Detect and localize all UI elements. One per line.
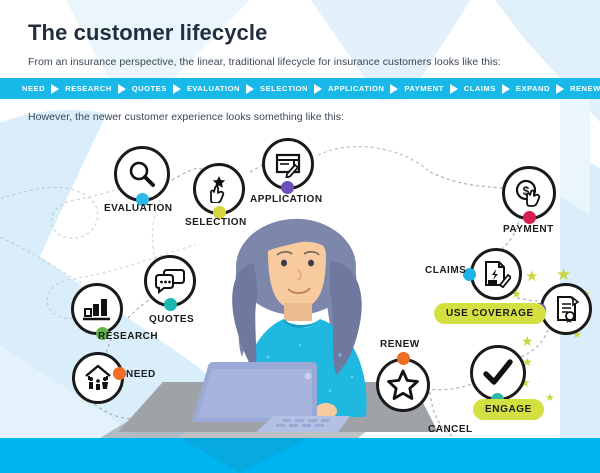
certificate-icon (552, 295, 580, 323)
journey-node-selection-label: SELECTION (185, 217, 247, 228)
bar-chart-icon (82, 296, 112, 322)
journey-node-renew[interactable] (376, 358, 430, 412)
rating-star: ★ (556, 266, 571, 283)
journey-node-application-dot (281, 181, 294, 194)
journey-node-research[interactable] (71, 283, 123, 335)
linear-lifecycle-banner: NEEDRESEARCHQUOTESEVALUATIONSELECTIONAPP… (0, 78, 600, 99)
lifecycle-step-application: APPLICATION (328, 84, 384, 93)
triangle-right-icon (118, 84, 126, 94)
bottom-band-triangle (180, 438, 310, 473)
journey-node-application-label: APPLICATION (250, 194, 323, 205)
lifecycle-step-claims: CLAIMS (464, 84, 496, 93)
lifecycle-step-need: NEED (22, 84, 45, 93)
lifecycle-step-research: RESEARCH (65, 84, 112, 93)
triangle-right-icon (390, 84, 398, 94)
triangle-right-icon (502, 84, 510, 94)
intro-paragraph-1: From an insurance perspective, the linea… (28, 56, 501, 68)
journey-node-renew-dot (397, 352, 410, 365)
journey-node-renew-label: RENEW (380, 339, 420, 350)
rating-star: ★ (545, 393, 555, 404)
infographic-canvas: The customer lifecycle From an insurance… (0, 0, 600, 473)
dollar-hand-icon: $ (514, 178, 544, 208)
lifecycle-step-quotes: QUOTES (132, 84, 167, 93)
triangle-right-icon (556, 84, 564, 94)
triangle-right-icon (51, 84, 59, 94)
speech-bubbles-icon (155, 268, 185, 294)
claims-doc-pen-icon (481, 259, 511, 289)
magnifier-icon (127, 159, 157, 189)
cursor-star-icon (205, 175, 233, 203)
laptop (186, 360, 352, 435)
pill-use-coverage[interactable]: USE COVERAGE (434, 303, 546, 324)
journey-node-need-label: NEED (126, 369, 156, 380)
rating-star: ★ (521, 334, 534, 348)
rating-star: ★ (525, 269, 538, 284)
star-outline-icon (387, 369, 419, 401)
cancel-label: CANCEL (428, 424, 473, 435)
journey-node-quotes-dot (164, 298, 177, 311)
family-home-icon (83, 364, 113, 392)
triangle-right-icon (314, 84, 322, 94)
lifecycle-step-payment: PAYMENT (404, 84, 443, 93)
journey-node-claims[interactable] (470, 248, 522, 300)
intro-paragraph-2: However, the newer customer experience l… (28, 111, 344, 123)
triangle-right-icon (246, 84, 254, 94)
lifecycle-step-expand: EXPAND (516, 84, 550, 93)
triangle-right-icon (173, 84, 181, 94)
journey-node-payment-label: PAYMENT (503, 224, 554, 235)
lifecycle-step-selection: SELECTION (260, 84, 308, 93)
journey-node-payment-dot (523, 211, 536, 224)
triangle-right-icon (450, 84, 458, 94)
form-pen-icon (274, 150, 302, 178)
journey-node-need-dot (113, 367, 126, 380)
checkmark-icon (482, 357, 514, 389)
journey-node-quotes-label: QUOTES (149, 314, 194, 325)
page-title: The customer lifecycle (28, 20, 267, 46)
lifecycle-step-evaluation: EVALUATION (187, 84, 240, 93)
journey-node-certificate[interactable] (540, 283, 592, 335)
journey-node-claims-label: CLAIMS (425, 265, 466, 276)
journey-node-evaluation-label: EVALUATION (104, 203, 173, 214)
journey-node-research-label: RESEARCH (98, 331, 158, 342)
bottom-band (0, 438, 600, 473)
lifecycle-step-renew-cancel: RENEW/CANCEL (570, 84, 600, 93)
pill-engage[interactable]: ENGAGE (473, 399, 544, 420)
